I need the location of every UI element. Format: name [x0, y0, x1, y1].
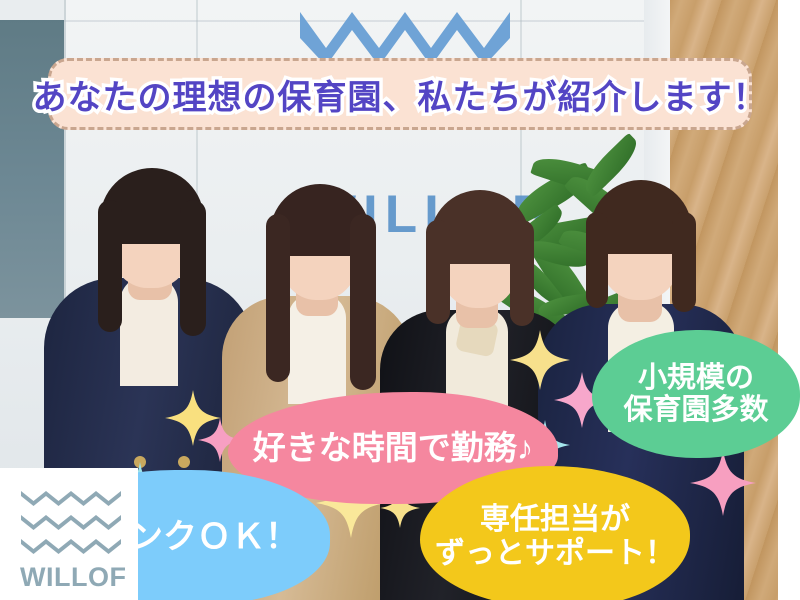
ad-banner-image: WILLOF	[0, 0, 800, 600]
hair-side-left	[266, 214, 290, 382]
hair-side-left	[98, 200, 122, 332]
headline-text: あなたの理想の保育園、私たちが紹介します！	[33, 70, 768, 119]
badge-line: 好きな時間で勤務♪	[253, 430, 534, 467]
wall-panel-left-top	[0, 0, 64, 20]
willof-zigzag-icon	[21, 538, 121, 554]
blazer-button	[178, 456, 190, 468]
badge-line: ずっとサポート！	[435, 537, 675, 571]
hair-side-right	[350, 214, 376, 390]
sparkle-pink-3-icon	[690, 450, 756, 516]
hair-side-right	[672, 212, 696, 312]
image-right-margin	[778, 0, 800, 600]
headline-banner: あなたの理想の保育園、私たちが紹介します！	[48, 58, 752, 130]
willof-logo-card: WILLOF	[0, 468, 138, 600]
hair-side-right	[510, 220, 534, 326]
badge-line: 専任担当が	[480, 503, 630, 537]
hair-side-left	[586, 212, 608, 308]
hair-side-left	[426, 220, 450, 324]
badge-line: 小規模の	[638, 362, 754, 394]
willof-zigzag-icon	[21, 514, 121, 530]
badge-dedicated-support: 専任担当が ずっとサポート！	[420, 466, 690, 600]
willof-zigzag-icon	[21, 490, 121, 506]
badge-line: 保育園多数	[623, 394, 768, 426]
hair-side-right	[180, 200, 206, 336]
badge-small-nurseries: 小規模の 保育園多数	[592, 330, 800, 458]
willof-brand-name: WILLOF	[20, 562, 126, 593]
